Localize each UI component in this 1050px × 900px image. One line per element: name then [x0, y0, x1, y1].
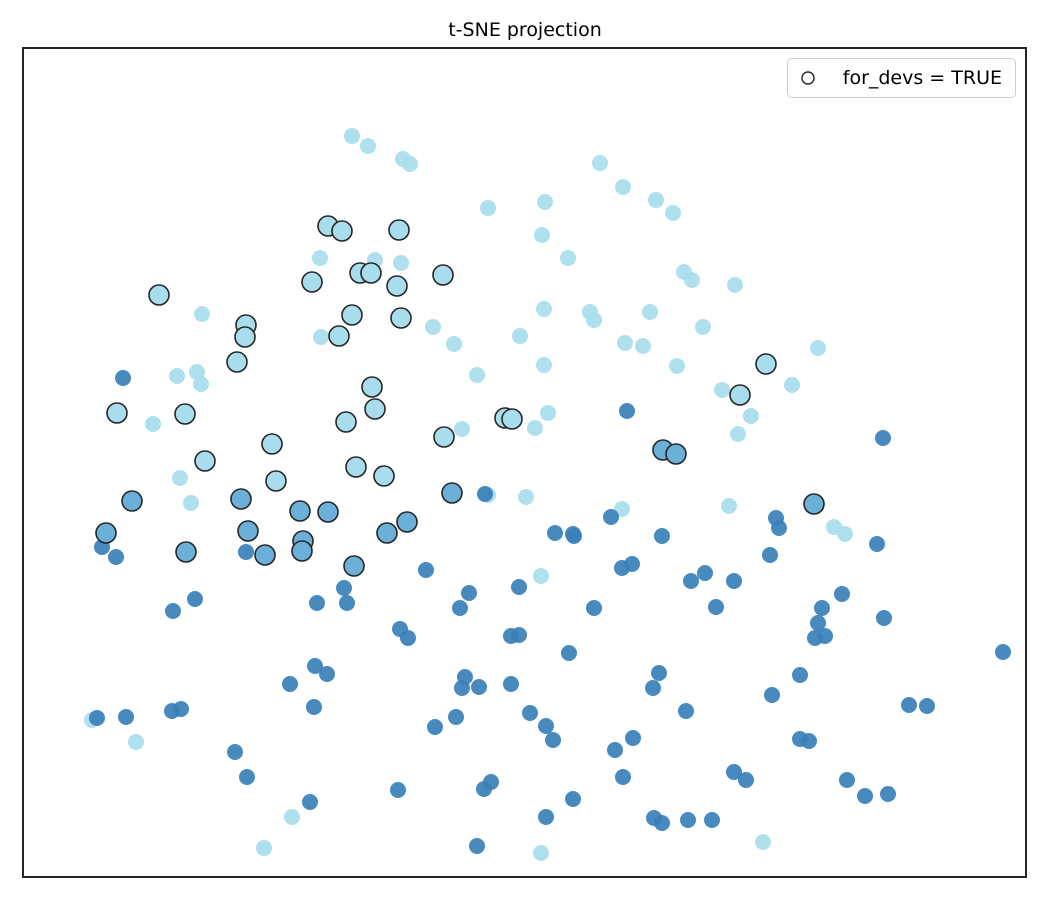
- scatter-point[interactable]: [869, 536, 885, 552]
- scatter-point[interactable]: [425, 319, 441, 335]
- scatter-point[interactable]: [625, 730, 641, 746]
- scatter-point[interactable]: [648, 192, 664, 208]
- scatter-point[interactable]: [195, 451, 215, 471]
- scatter-point[interactable]: [452, 600, 468, 616]
- scatter-point[interactable]: [256, 840, 272, 856]
- scatter-point[interactable]: [680, 812, 696, 828]
- scatter-point[interactable]: [880, 786, 896, 802]
- scatter-point[interactable]: [654, 815, 670, 831]
- legend[interactable]: for_devs = TRUE: [787, 58, 1016, 98]
- scatter-point[interactable]: [339, 595, 355, 611]
- scatter-point[interactable]: [282, 676, 298, 692]
- scatter-point[interactable]: [319, 666, 335, 682]
- scatter-point[interactable]: [801, 733, 817, 749]
- scatter-point[interactable]: [442, 483, 462, 503]
- scatter-point[interactable]: [837, 526, 853, 542]
- scatter-point[interactable]: [402, 156, 418, 172]
- scatter-point[interactable]: [312, 250, 328, 266]
- scatter-point[interactable]: [538, 809, 554, 825]
- scatter-point[interactable]: [480, 200, 496, 216]
- scatter-point[interactable]: [284, 809, 300, 825]
- scatter-point[interactable]: [615, 769, 631, 785]
- scatter-point[interactable]: [360, 138, 376, 154]
- scatter-point[interactable]: [238, 521, 258, 541]
- scatter-svg: [24, 49, 1025, 876]
- scatter-point[interactable]: [393, 255, 409, 271]
- scatter-point[interactable]: [118, 709, 134, 725]
- scatter-point[interactable]: [145, 416, 161, 432]
- scatter-point[interactable]: [397, 512, 417, 532]
- scatter-point[interactable]: [502, 409, 522, 429]
- scatter-point[interactable]: [433, 265, 453, 285]
- scatter-point[interactable]: [533, 845, 549, 861]
- scatter-point[interactable]: [461, 585, 477, 601]
- scatter-series: [84, 128, 1011, 876]
- scatter-point[interactable]: [169, 368, 185, 384]
- scatter-point[interactable]: [617, 335, 633, 351]
- legend-label: for_devs = TRUE: [843, 67, 1002, 89]
- scatter-point[interactable]: [332, 221, 352, 241]
- scatter-point[interactable]: [538, 718, 554, 734]
- scatter-point[interactable]: [122, 491, 142, 511]
- scatter-point[interactable]: [176, 542, 196, 562]
- scatter-point[interactable]: [346, 457, 366, 477]
- scatter-point[interactable]: [342, 305, 362, 325]
- scatter-point[interactable]: [448, 709, 464, 725]
- scatter-point[interactable]: [454, 421, 470, 437]
- scatter-point[interactable]: [666, 444, 686, 464]
- scatter-point[interactable]: [545, 732, 561, 748]
- scatter-point[interactable]: [374, 466, 394, 486]
- scatter-point[interactable]: [266, 471, 286, 491]
- scatter-point[interactable]: [477, 486, 493, 502]
- scatter-point[interactable]: [194, 306, 210, 322]
- scatter-point[interactable]: [654, 528, 670, 544]
- scatter-point[interactable]: [714, 382, 730, 398]
- scatter-point[interactable]: [292, 541, 312, 561]
- page-title: t-SNE projection: [0, 17, 1050, 43]
- scatter-point[interactable]: [683, 573, 699, 589]
- scatter-point[interactable]: [708, 599, 724, 615]
- scatter-point[interactable]: [255, 545, 275, 565]
- scatter-point[interactable]: [533, 568, 549, 584]
- scatter-point[interactable]: [730, 385, 750, 405]
- scatter-point[interactable]: [318, 502, 338, 522]
- scatter-point[interactable]: [238, 544, 254, 560]
- scatter-point[interactable]: [771, 520, 787, 536]
- scatter-point[interactable]: [721, 498, 737, 514]
- scatter-point[interactable]: [391, 308, 411, 328]
- scatter-point[interactable]: [619, 403, 635, 419]
- scatter-point[interactable]: [536, 357, 552, 373]
- scatter-point[interactable]: [901, 697, 917, 713]
- scatter-series: [96, 216, 824, 576]
- scatter-point[interactable]: [586, 312, 602, 328]
- scatter-point[interactable]: [586, 600, 602, 616]
- scatter-point[interactable]: [615, 179, 631, 195]
- scatter-point[interactable]: [756, 354, 776, 374]
- scatter-point[interactable]: [344, 128, 360, 144]
- scatter-point[interactable]: [361, 263, 381, 283]
- scatter-point[interactable]: [695, 319, 711, 335]
- scatter-point[interactable]: [919, 698, 935, 714]
- scatter-point[interactable]: [614, 560, 630, 576]
- scatter-point[interactable]: [344, 556, 364, 576]
- scatter-point[interactable]: [471, 679, 487, 695]
- scatter-points-layer: [24, 49, 1025, 876]
- scatter-point[interactable]: [536, 301, 552, 317]
- scatter-point[interactable]: [187, 591, 203, 607]
- scatter-point[interactable]: [313, 329, 329, 345]
- scatter-point[interactable]: [635, 338, 651, 354]
- scatter-point[interactable]: [540, 405, 556, 421]
- scatter-point[interactable]: [235, 327, 255, 347]
- scatter-point[interactable]: [427, 719, 443, 735]
- scatter-point[interactable]: [518, 489, 534, 505]
- scatter-point[interactable]: [834, 586, 850, 602]
- scatter-point[interactable]: [876, 610, 892, 626]
- scatter-point[interactable]: [607, 742, 623, 758]
- scatter-point[interactable]: [678, 703, 694, 719]
- scatter-point[interactable]: [730, 426, 746, 442]
- scatter-point[interactable]: [738, 772, 754, 788]
- scatter-point[interactable]: [875, 430, 891, 446]
- scatter-point[interactable]: [503, 676, 519, 692]
- scatter-point[interactable]: [387, 276, 407, 296]
- scatter-point[interactable]: [227, 352, 247, 372]
- scatter-point[interactable]: [418, 562, 434, 578]
- scatter-point[interactable]: [469, 367, 485, 383]
- scatter-point[interactable]: [645, 680, 661, 696]
- scatter-point[interactable]: [175, 404, 195, 424]
- scatter-point[interactable]: [434, 427, 454, 447]
- scatter-point[interactable]: [547, 525, 563, 541]
- tsne-figure: t-SNE projection for_devs = TRUE: [0, 0, 1050, 900]
- scatter-point[interactable]: [336, 580, 352, 596]
- scatter-point[interactable]: [697, 565, 713, 581]
- scatter-point[interactable]: [173, 701, 189, 717]
- scatter-point[interactable]: [727, 277, 743, 293]
- scatter-point[interactable]: [527, 420, 543, 436]
- scatter-point[interactable]: [603, 509, 619, 525]
- scatter-point[interactable]: [565, 791, 581, 807]
- scatter-point[interactable]: [592, 155, 608, 171]
- scatter-point[interactable]: [566, 528, 582, 544]
- scatter-point[interactable]: [128, 734, 144, 750]
- scatter-point[interactable]: [107, 403, 127, 423]
- scatter-point[interactable]: [522, 705, 538, 721]
- scatter-point[interactable]: [642, 304, 658, 320]
- scatter-point[interactable]: [365, 399, 385, 419]
- scatter-point[interactable]: [336, 412, 356, 432]
- plot-area[interactable]: for_devs = TRUE: [22, 47, 1027, 878]
- scatter-point[interactable]: [810, 340, 826, 356]
- scatter-point[interactable]: [362, 377, 382, 397]
- scatter-point[interactable]: [534, 227, 550, 243]
- scatter-point[interactable]: [560, 250, 576, 266]
- scatter-point[interactable]: [669, 358, 685, 374]
- scatter-point[interactable]: [309, 595, 325, 611]
- scatter-point[interactable]: [511, 579, 527, 595]
- scatter-point[interactable]: [390, 782, 406, 798]
- scatter-point[interactable]: [651, 665, 667, 681]
- scatter-point[interactable]: [302, 794, 318, 810]
- scatter-point[interactable]: [476, 781, 492, 797]
- circle-open-icon: [799, 69, 817, 87]
- scatter-point[interactable]: [149, 285, 169, 305]
- scatter-point[interactable]: [469, 838, 485, 854]
- scatter-point[interactable]: [302, 272, 322, 292]
- scatter-point[interactable]: [503, 628, 519, 644]
- scatter-point[interactable]: [804, 494, 824, 514]
- scatter-point[interactable]: [115, 370, 131, 386]
- scatter-point[interactable]: [792, 667, 808, 683]
- scatter-point[interactable]: [817, 628, 833, 644]
- scatter-point[interactable]: [446, 336, 462, 352]
- scatter-point[interactable]: [400, 630, 416, 646]
- scatter-point[interactable]: [755, 834, 771, 850]
- scatter-point[interactable]: [329, 326, 349, 346]
- scatter-point[interactable]: [684, 272, 700, 288]
- scatter-point[interactable]: [764, 687, 780, 703]
- scatter-point[interactable]: [814, 600, 830, 616]
- scatter-point[interactable]: [227, 744, 243, 760]
- scatter-point[interactable]: [108, 549, 124, 565]
- scatter-point[interactable]: [165, 603, 181, 619]
- scatter-point[interactable]: [193, 376, 209, 392]
- scatter-point[interactable]: [743, 408, 759, 424]
- scatter-point[interactable]: [389, 220, 409, 240]
- scatter-point[interactable]: [704, 812, 720, 828]
- scatter-point[interactable]: [857, 788, 873, 804]
- scatter-point[interactable]: [290, 501, 310, 521]
- scatter-point[interactable]: [726, 573, 742, 589]
- scatter-point[interactable]: [239, 769, 255, 785]
- scatter-point[interactable]: [762, 547, 778, 563]
- scatter-point[interactable]: [665, 205, 681, 221]
- scatter-point[interactable]: [262, 434, 282, 454]
- scatter-point[interactable]: [995, 644, 1011, 660]
- scatter-point[interactable]: [561, 645, 577, 661]
- scatter-point[interactable]: [839, 772, 855, 788]
- scatter-point[interactable]: [377, 523, 397, 543]
- scatter-point[interactable]: [96, 523, 116, 543]
- scatter-point[interactable]: [512, 328, 528, 344]
- scatter-point[interactable]: [454, 680, 470, 696]
- scatter-point[interactable]: [231, 489, 251, 509]
- scatter-point[interactable]: [172, 470, 188, 486]
- scatter-point[interactable]: [306, 699, 322, 715]
- scatter-point[interactable]: [183, 495, 199, 511]
- scatter-point[interactable]: [89, 710, 105, 726]
- scatter-point[interactable]: [784, 377, 800, 393]
- scatter-point[interactable]: [537, 194, 553, 210]
